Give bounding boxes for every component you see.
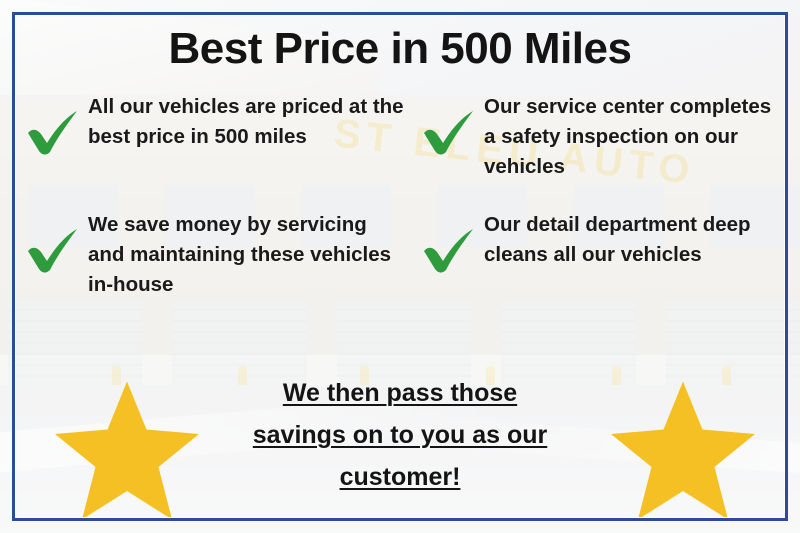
green-check-icon (24, 224, 82, 276)
green-check-icon (24, 106, 82, 158)
page-title: Best Price in 500 Miles (0, 24, 800, 74)
footer-line-2: savings on to you as our (180, 414, 620, 456)
promotional-poster: ST ELEU AUTO Best Price in 500 Miles (0, 0, 800, 533)
footer-message: We then pass those savings on to you as … (180, 372, 620, 498)
green-check-icon (420, 224, 478, 276)
gold-star-icon (608, 378, 758, 523)
list-item: All our vehicles are priced at the best … (24, 92, 414, 182)
benefits-list: All our vehicles are priced at the best … (24, 92, 784, 300)
list-item-label: All our vehicles are priced at the best … (88, 92, 408, 152)
list-item-label: We save money by servicing and maintaini… (88, 210, 408, 300)
list-item: Our service center completes a safety in… (414, 92, 784, 182)
list-item: We save money by servicing and maintaini… (24, 210, 414, 300)
list-item: Our detail department deep cleans all ou… (414, 210, 784, 300)
footer-line-1: We then pass those (180, 372, 620, 414)
poster-content: Best Price in 500 Miles All our vehicles… (0, 0, 800, 533)
green-check-icon (420, 106, 478, 158)
list-item-label: Our detail department deep cleans all ou… (484, 210, 784, 270)
list-item-label: Our service center completes a safety in… (484, 92, 784, 182)
footer-line-3: customer! (180, 456, 620, 498)
